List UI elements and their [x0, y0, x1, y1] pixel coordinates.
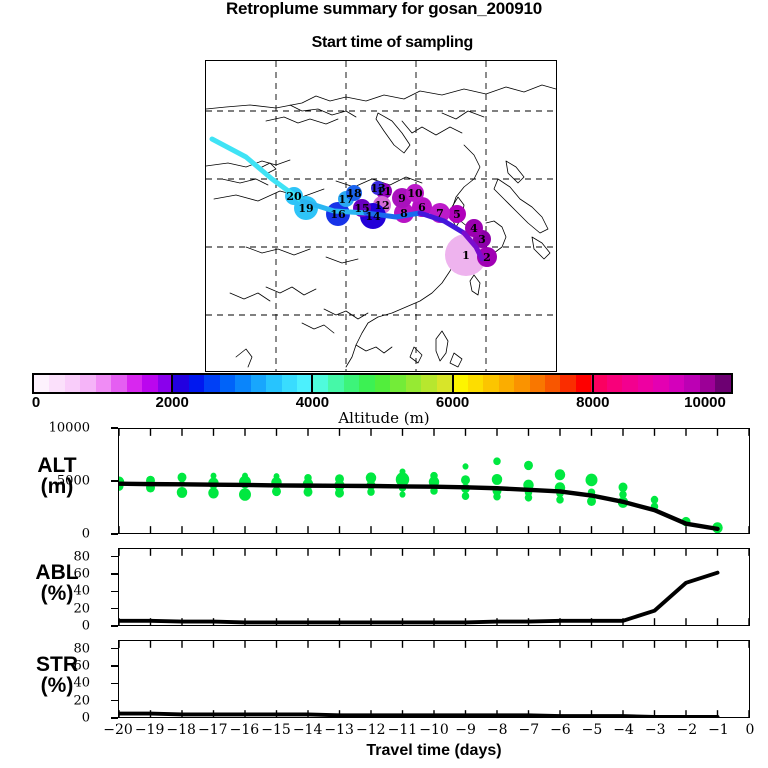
- xtick-label--3: −3: [645, 722, 666, 738]
- xtick-label--19: −19: [135, 722, 165, 738]
- abl-ytick-mark-20: [111, 608, 118, 610]
- alt-scatter-point-18: [304, 487, 313, 496]
- xtick-label--2: −2: [676, 722, 697, 738]
- plume-marker-label-5: 5: [453, 208, 461, 221]
- xtick-label--15: −15: [261, 722, 291, 738]
- colorbar-band-12: [220, 375, 235, 392]
- alt-ytick-mark-10000: [111, 427, 118, 429]
- xtick-label--7: −7: [518, 722, 539, 738]
- alt-scatter-point-28: [400, 491, 406, 497]
- alt-ytick-10000: 10000: [49, 421, 90, 436]
- alt-scatter-point-9: [208, 487, 218, 498]
- xtick-label--10: −10: [419, 722, 449, 738]
- colorbar-band-3: [80, 375, 95, 392]
- abl-line: [119, 573, 718, 623]
- colorbar-band-20: [344, 375, 359, 392]
- xtick-label--18: −18: [166, 722, 196, 738]
- colorbar-divider-6000: [452, 373, 454, 394]
- str-ytick-mark-60: [111, 665, 118, 667]
- alt-scatter-point-24: [367, 488, 374, 496]
- colorbar-band-1: [49, 375, 64, 392]
- colorbar-band-40: [653, 375, 668, 392]
- colorbar-band-17: [297, 375, 312, 392]
- colorbar-band-18: [313, 375, 328, 392]
- altitude-colorbar: [32, 373, 733, 394]
- str-label-line2: (%): [2, 675, 112, 696]
- colorbar-band-5: [111, 375, 126, 392]
- colorbar-band-16: [282, 375, 297, 392]
- alt-ytick-mark-5000: [111, 480, 118, 482]
- xtick-label--11: −11: [388, 722, 418, 738]
- colorbar-band-37: [607, 375, 622, 392]
- abl-ytick-mark-60: [111, 573, 118, 575]
- str-plot-panel: [118, 640, 750, 718]
- xtick-label--12: −12: [356, 722, 386, 738]
- abl-ytick-mark-80: [111, 556, 118, 558]
- colorbar-band-7: [142, 375, 157, 392]
- colorbar-band-19: [328, 375, 343, 392]
- plume-marker-label-20: 20: [286, 190, 302, 203]
- colorbar-band-42: [684, 375, 699, 392]
- abl-axis-label: ABL (%): [2, 562, 112, 605]
- x-axis-title: Travel time (days): [118, 742, 750, 760]
- abl-label-line1: ABL: [2, 562, 112, 583]
- colorbar-divider-8000: [592, 373, 594, 394]
- xtick-label--9: −9: [455, 722, 476, 738]
- abl-ytick-0: 0: [82, 619, 90, 634]
- colorbar-band-13: [235, 375, 250, 392]
- colorbar-band-39: [638, 375, 653, 392]
- plume-marker-label-6: 6: [418, 201, 426, 214]
- colorbar-band-38: [622, 375, 637, 392]
- alt-scatter-point-44: [555, 469, 565, 480]
- str-ytick-mark-80: [111, 648, 118, 650]
- alt-scatter-point-48: [586, 474, 598, 487]
- alt-scatter-point-43: [525, 494, 532, 502]
- str-plot-svg: [119, 641, 749, 717]
- xtick-label--1: −1: [708, 722, 729, 738]
- alt-scatter-points: [119, 457, 723, 533]
- abl-ytick-mark-40: [111, 591, 118, 593]
- xtick-label--8: −8: [487, 722, 508, 738]
- colorbar-band-25: [421, 375, 436, 392]
- xtick-label--14: −14: [293, 722, 323, 738]
- alt-scatter-point-37: [492, 474, 502, 485]
- alt-scatter-point-32: [463, 463, 469, 469]
- alt-ytick-mark-0: [111, 533, 118, 535]
- str-label-line1: STR: [2, 654, 112, 675]
- alt-scatter-point-21: [335, 488, 344, 497]
- str-ytick-40: 40: [73, 676, 90, 691]
- colorbar-band-4: [96, 375, 111, 392]
- plume-marker-label-9: 9: [398, 192, 406, 205]
- alt-scatter-point-54: [651, 496, 658, 504]
- colorbar-band-23: [390, 375, 405, 392]
- colorbar-band-32: [530, 375, 545, 392]
- colorbar-band-28: [468, 375, 483, 392]
- str-ytick-60: 60: [73, 659, 90, 674]
- plume-marker-label-4: 4: [470, 222, 478, 235]
- xtick-label--4: −4: [613, 722, 634, 738]
- xtick-label--17: −17: [198, 722, 228, 738]
- colorbar-band-29: [483, 375, 498, 392]
- alt-scatter-point-15: [272, 487, 281, 496]
- colorbar-band-9: [173, 375, 188, 392]
- colorbar-band-26: [437, 375, 452, 392]
- colorbar-band-15: [266, 375, 281, 392]
- alt-mean-line: [119, 484, 718, 529]
- x-axis-tick-labels: −20−19−18−17−16−15−14−13−12−11−10−9−8−7−…: [0, 722, 768, 740]
- colorbar-band-11: [204, 375, 219, 392]
- alt-scatter-point-35: [462, 492, 469, 500]
- colorbar-band-43: [700, 375, 715, 392]
- abl-ytick-mark-0: [111, 625, 118, 627]
- str-ytick-80: 80: [73, 641, 90, 656]
- alt-plot-svg: [119, 429, 749, 533]
- str-xtick-marks: [119, 641, 749, 717]
- colorbar-title: Altitude (m): [0, 409, 768, 427]
- str-ytick-mark-40: [111, 683, 118, 685]
- alt-scatter-point-40: [524, 461, 533, 470]
- colorbar-divider-4000: [311, 373, 313, 394]
- colorbar-band-24: [406, 375, 421, 392]
- abl-ytick-80: 80: [73, 549, 90, 564]
- plume-marker-label-10: 10: [407, 187, 423, 200]
- colorbar-band-44: [715, 375, 730, 392]
- xtick-label-0: 0: [746, 722, 755, 738]
- abl-plot-svg: [119, 549, 749, 625]
- alt-scatter-point-39: [493, 493, 500, 501]
- xtick-label--20: −20: [103, 722, 133, 738]
- colorbar-band-6: [127, 375, 142, 392]
- str-ytick-mark-0: [111, 717, 118, 719]
- colorbar-band-10: [189, 375, 204, 392]
- map-canvas: 1234567891011121314151617181920: [206, 61, 556, 371]
- abl-xtick-marks: [119, 549, 749, 625]
- abl-plot-panel: [118, 548, 750, 626]
- alt-scatter-point-51: [619, 483, 628, 492]
- plume-marker-label-15: 15: [354, 202, 369, 215]
- plume-marker-label-13: 13: [370, 182, 385, 195]
- str-ytick-20: 20: [73, 693, 90, 708]
- colorbar-band-30: [499, 375, 514, 392]
- alt-scatter-point-12: [239, 488, 251, 501]
- colorbar-band-22: [375, 375, 390, 392]
- colorbar-band-2: [65, 375, 80, 392]
- plume-marker-label-16: 16: [330, 208, 346, 221]
- xtick-label--6: −6: [550, 722, 571, 738]
- plume-marker-label-1: 1: [462, 249, 470, 262]
- str-axis-label: STR (%): [2, 654, 112, 697]
- plume-marker-label-18: 18: [346, 187, 362, 200]
- alt-ytick-5000: 5000: [57, 474, 90, 489]
- alt-ytick-0: 0: [82, 527, 90, 542]
- start-time-label: Start time of sampling: [312, 34, 473, 51]
- xtick-label--5: −5: [582, 722, 603, 738]
- colorbar-band-21: [359, 375, 374, 392]
- colorbar-band-14: [251, 375, 266, 392]
- abl-ytick-20: 20: [73, 601, 90, 616]
- xtick-label--13: −13: [324, 722, 354, 738]
- colorbar-divider-2000: [171, 373, 173, 394]
- plume-marker-label-19: 19: [298, 202, 313, 215]
- colorbar-band-0: [34, 375, 49, 392]
- abl-label-line2: (%): [2, 583, 112, 604]
- colorbar-band-31: [514, 375, 529, 392]
- colorbar-band-41: [669, 375, 684, 392]
- alt-scatter-point-36: [493, 457, 500, 465]
- colorbar-band-33: [545, 375, 560, 392]
- colorbar-band-27: [452, 375, 467, 392]
- plume-marker-label-7: 7: [436, 207, 444, 220]
- alt-plot-panel: [118, 428, 750, 534]
- alt-scatter-point-47: [556, 496, 563, 504]
- alt-scatter-point-6: [177, 487, 187, 498]
- str-ytick-mark-20: [111, 700, 118, 702]
- colorbar-band-35: [576, 375, 591, 392]
- plume-marker-label-3: 3: [478, 233, 486, 246]
- abl-ytick-60: 60: [73, 567, 90, 582]
- str-line: [119, 714, 718, 717]
- plume-marker-label-2: 2: [483, 251, 491, 264]
- page-title: Retroplume summary for gosan_200910: [0, 0, 768, 18]
- xtick-label--16: −16: [230, 722, 260, 738]
- retroplume-map: 1234567891011121314151617181920: [205, 60, 557, 372]
- colorbar-band-34: [560, 375, 575, 392]
- plume-marker-label-8: 8: [400, 207, 408, 220]
- abl-ytick-40: 40: [73, 584, 90, 599]
- alt-scatter-point-33: [461, 475, 470, 484]
